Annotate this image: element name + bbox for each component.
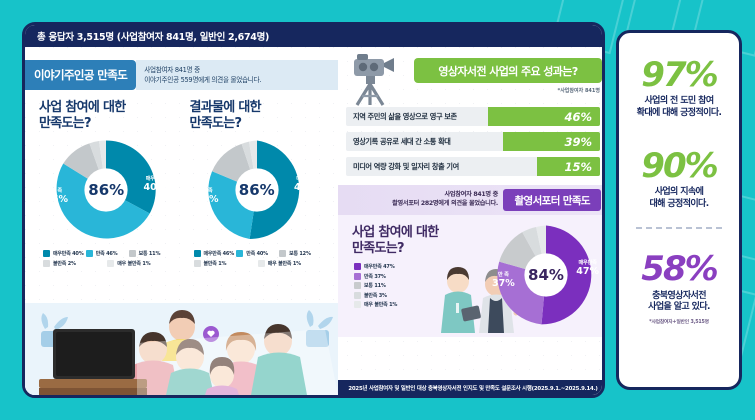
- stat-90-description: 사업의 지속에 대해 긍정적이다.: [627, 187, 731, 210]
- legend-item: 보통 11%: [129, 250, 172, 257]
- legend-swatch: [354, 273, 361, 280]
- stat-58-desc-line2: 사업을 알고 있다.: [627, 302, 731, 314]
- stat-97-desc-line1: 사업의 전 도민 참여: [627, 96, 731, 108]
- legend-item: 매우만족 47%: [354, 263, 397, 270]
- legend-item: 매우 불만족 1%: [107, 260, 171, 267]
- legend-swatch: [43, 250, 50, 257]
- family-watching-tv-illustration: [25, 303, 338, 395]
- donut-1-legend: 매우만족 40% 만족 46% 보통 11% 불만족 2% 매우 불만족 1%: [33, 244, 180, 270]
- legend-swatch: [107, 260, 114, 267]
- stat-97-desc-line2: 확대에 대해 긍정적이다.: [627, 108, 731, 120]
- legend-label: 보통 12%: [289, 250, 311, 257]
- bar-value: 15%: [564, 160, 592, 174]
- legend-swatch: [194, 260, 201, 267]
- legend-item: 불만족 1%: [194, 260, 258, 267]
- legend-swatch: [236, 250, 243, 257]
- legend-label: 보통 11%: [364, 282, 386, 289]
- video-camera-icon: [344, 51, 410, 111]
- donut-1-label-a-value: 40%: [144, 183, 167, 193]
- legend-swatch: [354, 263, 361, 270]
- supporter-note: 사업참여자 841명 중 촬영서포터 282명에게 의견을 물었습니다.: [392, 190, 498, 209]
- achievements-note: *사업참여자 841명: [558, 87, 600, 94]
- stat-58: 58% 충북영상자서전 사업을 알고 있다. *사업참여자+일반인 3,515명: [627, 253, 731, 325]
- donut-1-label-b-value: 46%: [45, 195, 68, 205]
- total-respondents-label: 총 응답자 3,515명 (사업참여자 841명, 일반인 2,674명): [37, 29, 269, 43]
- bar-fill: 15%: [537, 157, 601, 176]
- legend-label: 불만족 3%: [364, 292, 387, 299]
- donut-2-center-value: 86%: [239, 181, 275, 199]
- legend-label: 만족 46%: [96, 250, 118, 257]
- bar-label: 지역 주민의 삶을 영상으로 영구 보존: [346, 112, 457, 122]
- donut-1-label-very-satisfied: 매우만족 40%: [144, 177, 167, 193]
- survey-footer-text: 2025년 사업참여자 및 일반인 대상 충북영상자서전 인지도 및 만족도 설…: [348, 384, 597, 392]
- legend-swatch: [194, 250, 201, 257]
- stat-58-note: *사업참여자+일반인 3,515명: [627, 318, 731, 325]
- stat-90-desc-line1: 사업의 지속에: [627, 187, 731, 199]
- legend-item: 보통 11%: [354, 282, 397, 289]
- donut-2-label-a-value: 46%: [294, 183, 317, 193]
- legend-item: 매우 불만족 1%: [354, 301, 397, 308]
- legend-swatch: [354, 292, 361, 299]
- stat-97-description: 사업의 전 도민 참여 확대에 대해 긍정적이다.: [627, 96, 731, 119]
- stat-90-number: 90%: [627, 150, 731, 182]
- supporter-chip: 촬영서포터 만족도: [503, 189, 601, 211]
- bar-label: 영상기록 공유로 세대 간 소통 확대: [346, 137, 451, 147]
- donut-2-label-very-satisfied: 매우만족 46%: [294, 177, 317, 193]
- achievements-and-supporter-section: 영상자서전 사업의 주요 성과는? *사업참여자 841명 지역 주민의 삶을 …: [338, 47, 605, 395]
- legend-label: 매우만족 47%: [364, 263, 395, 270]
- donut-1-title: 사업 참여에 대한만족도는?: [33, 100, 180, 132]
- donut-2-chart: 86% 매우만족 46% 만 족 40%: [192, 136, 322, 244]
- story-note-line1: 사업참여자 841명 중: [144, 65, 330, 75]
- legend-swatch: [43, 260, 50, 267]
- legend-swatch: [354, 301, 361, 308]
- legend-swatch: [86, 250, 93, 257]
- story-protagonist-section: 이야기주인공 만족도 사업참여자 841명 중 이야기주인공 559명에게 의견…: [25, 47, 338, 395]
- supporter-donut-legend: 매우만족 47% 만족 37% 보통 11% 불만족 3% 매우 불만족 1%: [354, 263, 397, 311]
- story-section-chip: 이야기주인공 만족도: [25, 60, 136, 90]
- stat-58-number: 58%: [627, 253, 731, 285]
- supporter-note-line1: 사업참여자 841명 중: [392, 190, 498, 199]
- stat-90-desc-line2: 대해 긍정적이다.: [627, 199, 731, 211]
- bar-value: 46%: [564, 110, 592, 124]
- donut-supporter-label-very-satisfied: 매우만족 47%: [576, 261, 599, 277]
- legend-label: 만족 37%: [364, 273, 386, 280]
- legend-swatch: [258, 260, 265, 267]
- legend-label: 매우 불만족 1%: [268, 260, 301, 267]
- main-card: 총 응답자 3,515명 (사업참여자 841명, 일반인 2,674명) 이야…: [22, 22, 605, 398]
- legend-item: 불만족 3%: [354, 292, 397, 299]
- supporter-label-a-value: 47%: [576, 267, 599, 277]
- legend-item: 만족 40%: [236, 250, 279, 257]
- story-section-note: 사업참여자 841명 중 이야기주인공 559명에게 의견을 물었습니다.: [136, 60, 338, 90]
- legend-item: 불만족 2%: [43, 260, 107, 267]
- legend-item: 매우 불만족 1%: [258, 260, 322, 267]
- donut-1-chart: 86% 매우만족 40% 만 족 46%: [41, 136, 171, 244]
- donut-1-center-value: 86%: [88, 181, 124, 199]
- legend-label: 만족 40%: [246, 250, 268, 257]
- supporter-satisfaction-block: 사업 참여에 대한만족도는? 매우만족 47% 만족 37% 보통 11% 불만…: [338, 215, 605, 337]
- bar-row: 영상기록 공유로 세대 간 소통 확대 39%: [346, 132, 600, 151]
- stat-58-desc-line1: 충북영상자서전: [627, 291, 731, 303]
- supporter-donut-title: 사업 참여에 대한만족도는?: [352, 225, 438, 258]
- bar-value: 39%: [564, 135, 592, 149]
- donut-1-label-satisfied: 만 족 46%: [45, 189, 68, 205]
- story-note-line2: 이야기주인공 559명에게 의견을 물었습니다.: [144, 75, 330, 85]
- supporter-header: 사업참여자 841명 중 촬영서포터 282명에게 의견을 물었습니다. 촬영서…: [338, 185, 605, 215]
- donut-2-title: 결과물에 대한만족도는?: [184, 100, 331, 132]
- legend-label: 매우만족 40%: [53, 250, 84, 257]
- card-body: 이야기주인공 만족도 사업참여자 841명 중 이야기주인공 559명에게 의견…: [25, 47, 602, 395]
- donut-supporter-label-satisfied: 만 족 37%: [492, 273, 515, 289]
- donut-2-legend: 매우만족 46% 만족 40% 보통 12% 불만족 1% 매우 불만족 1%: [184, 244, 331, 270]
- donut-participation-satisfaction: 사업 참여에 대한만족도는?: [33, 100, 180, 270]
- legend-item: 매우만족 40%: [43, 250, 86, 257]
- donut-supporter-chart: 84% 매우만족 47% 만 족 37%: [490, 221, 602, 329]
- key-stats-panel: 97% 사업의 전 도민 참여 확대에 대해 긍정적이다. 90% 사업의 지속…: [616, 30, 742, 390]
- legend-label: 불만족 1%: [204, 260, 227, 267]
- bar-row: 미디어 역량 강화 및 일자리 창출 기여 15%: [346, 157, 600, 176]
- donut-2-label-satisfied: 만 족 40%: [196, 189, 219, 205]
- achievements-bar-chart: 지역 주민의 삶을 영상으로 영구 보존 46% 영상기록 공유로 세대 간 소…: [338, 107, 605, 176]
- stat-97: 97% 사업의 전 도민 참여 확대에 대해 긍정적이다.: [627, 59, 731, 120]
- donut-supporter-center-value: 84%: [528, 266, 564, 284]
- donut-2-label-b-value: 40%: [196, 195, 219, 205]
- stat-58-description: 충북영상자서전 사업을 알고 있다.: [627, 291, 731, 314]
- survey-footer: 2025년 사업참여자 및 일반인 대상 충북영상자서전 인지도 및 만족도 설…: [338, 380, 605, 395]
- bar-label: 미디어 역량 강화 및 일자리 창출 기여: [346, 162, 459, 172]
- supporter-note-line2: 촬영서포터 282명에게 의견을 물었습니다.: [392, 199, 498, 208]
- bar-fill: 39%: [503, 132, 600, 151]
- card-header: 총 응답자 3,515명 (사업참여자 841명, 일반인 2,674명): [25, 25, 602, 47]
- legend-label: 매우만족 46%: [204, 250, 235, 257]
- legend-swatch: [129, 250, 136, 257]
- story-section-header: 이야기주인공 만족도 사업참여자 841명 중 이야기주인공 559명에게 의견…: [25, 60, 338, 90]
- achievements-title: 영상자서전 사업의 주요 성과는?: [414, 58, 602, 83]
- supporter-label-b-value: 37%: [492, 279, 515, 289]
- achievements-header: 영상자서전 사업의 주요 성과는? *사업참여자 841명: [338, 53, 605, 107]
- legend-label: 불만족 2%: [53, 260, 76, 267]
- stat-97-number: 97%: [627, 59, 731, 91]
- bar-fill: 46%: [488, 107, 600, 126]
- legend-item: 만족 46%: [86, 250, 129, 257]
- legend-item: 매우만족 46%: [194, 250, 237, 257]
- story-donut-row: 사업 참여에 대한만족도는?: [25, 90, 338, 270]
- stats-divider: [636, 227, 721, 229]
- legend-item: 만족 37%: [354, 273, 397, 280]
- donut-result-satisfaction: 결과물에 대한만족도는?: [184, 100, 331, 270]
- legend-label: 매우 불만족 1%: [364, 301, 397, 308]
- legend-item: 보통 12%: [279, 250, 322, 257]
- legend-label: 매우 불만족 1%: [117, 260, 150, 267]
- legend-swatch: [279, 250, 286, 257]
- bar-row: 지역 주민의 삶을 영상으로 영구 보존 46%: [346, 107, 600, 126]
- legend-swatch: [354, 282, 361, 289]
- stat-90: 90% 사업의 지속에 대해 긍정적이다.: [627, 150, 731, 211]
- legend-label: 보통 11%: [139, 250, 161, 257]
